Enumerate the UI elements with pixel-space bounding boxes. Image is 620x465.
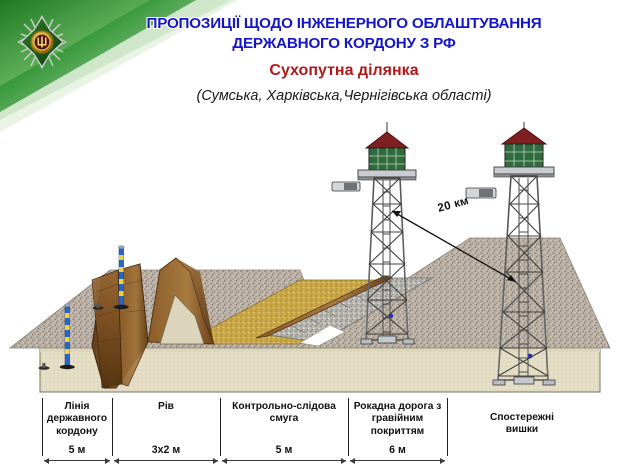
page-subtitle: Сухопутна ділянка (70, 62, 618, 80)
legend-label-line: Рів (112, 401, 220, 413)
legend-dimension: 3х2 м (112, 444, 220, 456)
legend-table: Лінія державного кордону 5 м Рів 3х2 м К… (0, 398, 620, 465)
legend-label-line: гравійним (348, 413, 447, 425)
page-title-line2: ДЕРЖАВНОГО КОРДОНУ З РФ (70, 34, 618, 54)
legend-column-control-strip: Контрольно-слідова смуга 5 м (220, 398, 348, 465)
page-regions-note: (Сумська, Харківська,Чернігівська област… (70, 88, 618, 104)
legend-column-border-line: Лінія державного кордону 5 м (42, 398, 112, 465)
legend-column-ditch: Рів 3х2 м (112, 398, 220, 465)
page-title: ПРОПОЗИЦІЇ ЩОДО ІНЖЕНЕРНОГО ОБЛАШТУВАННЯ… (70, 14, 618, 54)
page-title-line1: ПРОПОЗИЦІЇ ЩОДО ІНЖЕНЕРНОГО ОБЛАШТУВАННЯ (70, 14, 618, 34)
legend-dimension: 6 м (348, 444, 447, 456)
legend-column-rocade-road: Рокадна дорога з гравійним покриттям 6 м (348, 398, 447, 465)
legend-dimension: 5 м (42, 444, 112, 456)
dimension-arrow-border-line (44, 460, 110, 461)
legend-label-line: Спостережні (447, 412, 597, 424)
dimension-arrow-rocade-road (350, 460, 445, 461)
slide-header: ПРОПОЗИЦІЇ ЩОДО ІНЖЕНЕРНОГО ОБЛАШТУВАННЯ… (0, 0, 620, 132)
legend-label-line: кордону (42, 426, 112, 438)
legend-column-observation-towers: Спостережні вишки (447, 398, 597, 465)
legend-label-line: Лінія (42, 401, 112, 413)
legend-label-line: Рокадна дорога з (348, 401, 447, 413)
legend-label-line: покриттям (348, 426, 447, 438)
dimension-arrow-ditch (114, 460, 218, 461)
slide-root: ПРОПОЗИЦІЇ ЩОДО ІНЖЕНЕРНОГО ОБЛАШТУВАННЯ… (0, 0, 620, 465)
dimension-arrow-control-strip (222, 460, 346, 461)
legend-label-line: державного (42, 413, 112, 425)
cross-section-diagram (0, 120, 620, 395)
ukrainian-border-guard-emblem-icon (16, 14, 68, 70)
legend-label-line: Контрольно-слідова (220, 401, 348, 413)
legend-dimension: 5 м (220, 444, 348, 456)
legend-label-line: смуга (220, 413, 348, 425)
legend-label-line: вишки (447, 424, 597, 436)
